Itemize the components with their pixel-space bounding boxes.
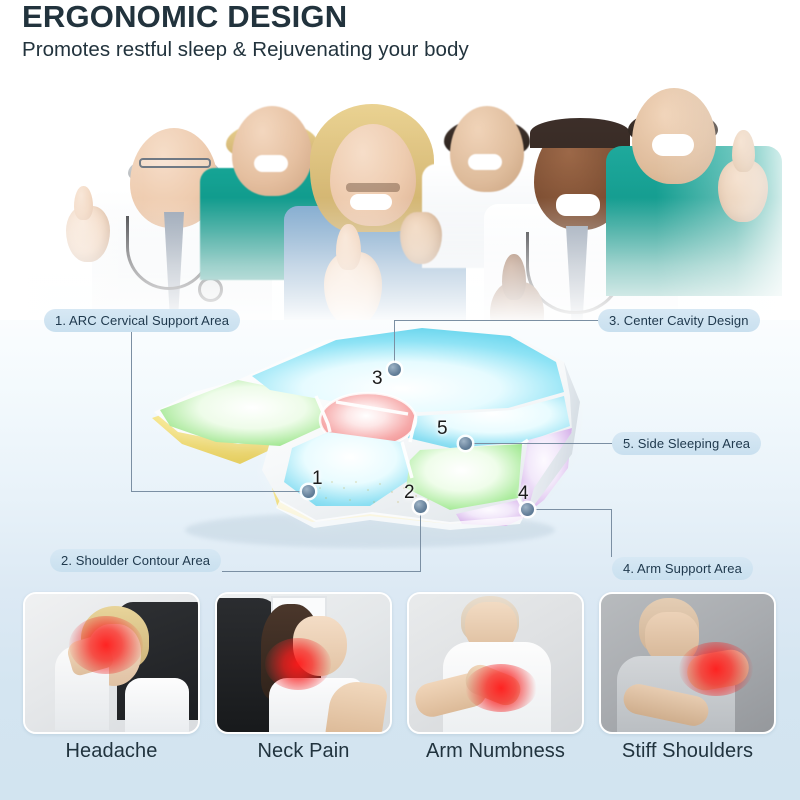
callout-line-3-vertical	[394, 320, 395, 367]
symptom-card-stiff-shoulders[interactable]	[599, 592, 776, 734]
callout-dot-4[interactable]	[521, 503, 534, 516]
callout-number-5: 5	[437, 418, 448, 440]
callout-line-5-horizontal	[466, 443, 614, 444]
symptom-card-neck-pain[interactable]	[215, 592, 392, 734]
callout-dot-3[interactable]	[388, 363, 401, 376]
callout-line-3-horizontal	[394, 320, 600, 321]
page-subtitle: Promotes restful sleep & Rejuvenating yo…	[22, 38, 469, 62]
symptom-caption-neck-pain: Neck Pain	[215, 740, 392, 763]
nurse-male-teal-right	[606, 66, 796, 296]
callout-line-2-vertical	[420, 505, 421, 572]
doctors-thumbs-up-photo	[0, 48, 800, 320]
callout-number-2: 2	[404, 482, 415, 504]
symptom-cards-row: Headache Neck Pain	[0, 592, 800, 800]
pain-highlight-neck	[265, 638, 331, 690]
symptom-caption-arm-numbness: Arm Numbness	[407, 740, 584, 763]
symptom-photo-stiff-shoulders	[601, 594, 774, 732]
pain-highlight-head	[69, 616, 143, 674]
callout-line-1-vertical	[131, 332, 132, 492]
header-block: ERGONOMIC DESIGN Promotes restful sleep …	[22, 0, 469, 62]
symptom-photo-headache	[25, 594, 198, 732]
pain-highlight-shoulder	[679, 642, 753, 696]
callout-line-4-horizontal	[530, 509, 612, 510]
callout-line-1-horizontal	[131, 491, 307, 492]
symptom-card-headache[interactable]	[23, 592, 200, 734]
callout-dot-2[interactable]	[414, 500, 427, 513]
page-title: ERGONOMIC DESIGN	[22, 0, 469, 34]
symptom-caption-headache: Headache	[23, 740, 200, 763]
callout-line-2-horizontal	[222, 571, 421, 572]
symptom-card-arm-numbness[interactable]	[407, 592, 584, 734]
callout-label-5[interactable]: 5. Side Sleeping Area	[612, 432, 761, 455]
callout-number-3: 3	[372, 368, 383, 390]
symptom-caption-stiff-shoulders: Stiff Shoulders	[599, 740, 776, 763]
callout-label-3[interactable]: 3. Center Cavity Design	[598, 309, 760, 332]
callout-label-4[interactable]: 4. Arm Support Area	[612, 557, 753, 580]
callout-label-2[interactable]: 2. Shoulder Contour Area	[50, 549, 221, 572]
callout-dot-1[interactable]	[302, 485, 315, 498]
symptom-photo-arm-numbness	[409, 594, 582, 732]
callout-line-4-vertical	[611, 509, 612, 557]
callout-number-4: 4	[518, 483, 529, 505]
pain-highlight-arm	[465, 664, 537, 712]
callout-label-1[interactable]: 1. ARC Cervical Support Area	[44, 309, 240, 332]
infographic-page: ERGONOMIC DESIGN Promotes restful sleep …	[0, 0, 800, 800]
symptom-photo-neck-pain	[217, 594, 390, 732]
callout-dot-5[interactable]	[459, 437, 472, 450]
